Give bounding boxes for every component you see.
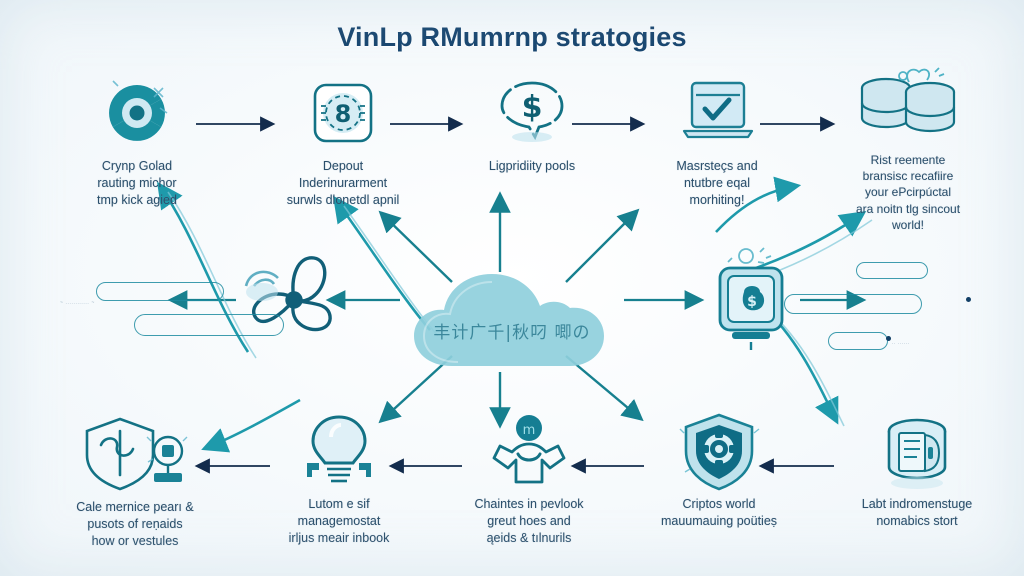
svg-text:$: $ [747, 294, 757, 310]
node-liquidity-pools[interactable]: $ Ligpridiity pools [447, 74, 617, 175]
pill-left-2 [134, 314, 284, 336]
node-caption: Chaintes in pevlook greut hoes and ąeids… [444, 496, 614, 547]
dollar-bubble-icon: $ [447, 74, 617, 152]
pill-left-1 [96, 282, 224, 301]
pill-right-2 [784, 294, 922, 314]
lightbulb-icon [254, 412, 424, 490]
node-caption: Lutom e sif managemostat irljus meair in… [254, 496, 424, 547]
user-arms-icon: m [444, 412, 614, 490]
page-title: VinLp RMumrnp stratogies [0, 22, 1024, 53]
coin-stacks-icon [823, 68, 993, 146]
node-deposit[interactable]: 8 Depout Inderinurarment surwls dlonetdl… [258, 74, 428, 209]
laptop-check-icon [632, 74, 802, 152]
node-insurance[interactable]: Cale mernice pearı & pusots of reṇaids h… [50, 415, 220, 550]
center-cloud-node[interactable]: 丰计广千|秋叼 唧の [398, 262, 626, 380]
svg-text:m: m [523, 423, 536, 438]
node-caption: Depout Inderinurarment surwls dlonetdl a… [258, 158, 428, 209]
node-caption: Cale mernice pearı & pusots of reṇaids h… [50, 499, 220, 550]
cloud-scribble-text: 丰计广千|秋叼 唧の [398, 318, 626, 343]
fan-propeller-icon [232, 242, 352, 358]
database-doc-icon [832, 412, 1002, 490]
diagram-canvas: VinLp RMumrnp stratogies [0, 0, 1024, 576]
node-storage[interactable]: Labt indromenstuge nomabics stort [832, 412, 1002, 530]
node-reserves[interactable]: Rist reemente bransisc recafiire your eP… [823, 68, 993, 233]
node-crypto-gold[interactable]: Crynp Golad rauting michor tmp kick agie… [52, 74, 222, 209]
pill-right-1 [856, 262, 928, 279]
node-caption: Crynp Golad rauting michor tmp kick agie… [52, 158, 222, 209]
accent-dot [966, 297, 971, 302]
shield-gear-icon [634, 412, 804, 490]
accent-dot [886, 336, 891, 341]
node-caption: Ligpridiity pools [447, 158, 617, 175]
coin-chip-icon: 8 [258, 74, 428, 152]
pill-right-3 [828, 332, 888, 350]
node-policies[interactable]: Criptos world mauumauing poütieṣ [634, 412, 804, 530]
donut-chart-icon [52, 74, 222, 152]
node-payouts[interactable]: m Chaintes in pevlook greut hoes and ąei… [444, 412, 614, 547]
micro-label: .. ...... [892, 340, 910, 346]
svg-text:8: 8 [335, 100, 352, 128]
node-left-fan[interactable] [232, 242, 352, 358]
node-caption: Labt indromenstuge nomabics stort [832, 496, 1002, 530]
node-automation[interactable]: Lutom e sif managemostat irljus meair in… [254, 412, 424, 547]
svg-text:$: $ [522, 90, 543, 125]
node-caption: Criptos world mauumauing poütieṣ [634, 496, 804, 530]
micro-label: ~ ............ ~ [60, 300, 95, 306]
shield-dollar-icon [50, 415, 220, 493]
node-caption: Masrsteçs and ntutbre eqal morhiting! [632, 158, 802, 209]
node-monitoring[interactable]: Masrsteçs and ntutbre eqal morhiting! [632, 74, 802, 209]
node-caption: Rist reemente bransisc recafiire your eP… [823, 152, 993, 233]
